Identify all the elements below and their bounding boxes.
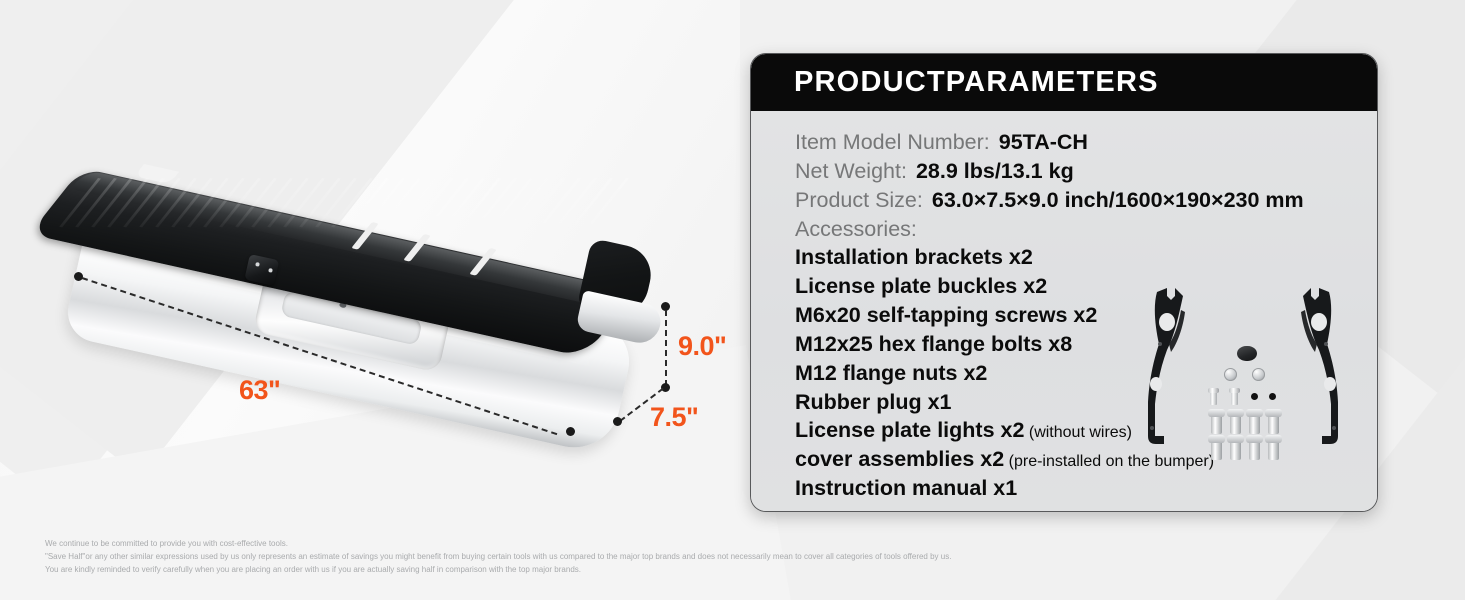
dimension-label-length: 63": [239, 375, 280, 406]
hardware-group: [1207, 346, 1287, 454]
installation-bracket-right: [1295, 286, 1341, 446]
accessory-text: License plate lights x2: [795, 418, 1024, 442]
accessory-text: M12 flange nuts x2: [795, 361, 987, 385]
dimension-label-depth: 7.5": [650, 402, 698, 433]
accessory-note: (without wires): [1024, 424, 1132, 441]
disclaimer-line: "Save Half"or any other similar expressi…: [45, 551, 1145, 564]
dimension-line-height: [665, 310, 667, 386]
accessory-text: Installation brackets x2: [795, 245, 1033, 269]
black-buckle-1-icon: [1251, 393, 1258, 400]
spec-list: Item Model Number:95TA-CHNet Weight:28.9…: [795, 130, 1377, 213]
spec-row: Product Size:63.0×7.5×9.0 inch/1600×190×…: [795, 188, 1377, 213]
accessory-text: License plate buckles x2: [795, 274, 1047, 298]
accessory-text: M12x25 hex flange bolts x8: [795, 332, 1072, 356]
spec-row: Net Weight:28.9 lbs/13.1 kg: [795, 159, 1377, 184]
hex-flange-bolt-5-icon: [1211, 438, 1222, 460]
hex-flange-bolt-6-icon: [1230, 438, 1241, 460]
hex-flange-bolt-7-icon: [1249, 438, 1260, 460]
disclaimer-line: You are kindly reminded to verify carefu…: [45, 564, 1145, 577]
rubber-plug-icon: [1237, 346, 1257, 361]
product-spec-image: 63" 9.0" 7.5" PRODUCTPARAMETERS Item Mod…: [0, 0, 1465, 600]
self-tapping-screw-2-icon: [1231, 390, 1238, 405]
accessory-text: cover assemblies x2: [795, 447, 1004, 471]
dimension-label-height: 9.0": [678, 331, 726, 362]
hex-flange-bolt-4-icon: [1268, 412, 1279, 434]
spec-value: 28.9 lbs/13.1 kg: [916, 159, 1074, 184]
hex-flange-bolt-2-icon: [1230, 412, 1241, 434]
flange-nut-2-icon: [1252, 368, 1265, 381]
installation-bracket-left: [1145, 286, 1191, 446]
dimension-dot-depth-end: [613, 417, 622, 426]
accessory-text: M6x20 self-tapping screws x2: [795, 303, 1097, 327]
flange-nut-1-icon: [1224, 368, 1237, 381]
accessory-text: Instruction manual x1: [795, 476, 1017, 500]
self-tapping-screw-1-icon: [1210, 390, 1217, 405]
product-photo: 63" 9.0" 7.5": [0, 0, 745, 520]
disclaimer: We continue to be committed to provide y…: [45, 538, 1145, 577]
hex-flange-bolt-3-icon: [1249, 412, 1260, 434]
accessory-text: Rubber plug x1: [795, 390, 951, 414]
hex-flange-bolt-1-icon: [1211, 412, 1222, 434]
accessory-item: Installation brackets x2: [795, 243, 1377, 272]
accessories-heading: Accessories:: [795, 217, 1377, 242]
dimension-dot-length-end: [566, 427, 575, 436]
spec-label: Item Model Number:: [795, 130, 990, 155]
hex-flange-bolt-8-icon: [1268, 438, 1279, 460]
spec-value: 63.0×7.5×9.0 inch/1600×190×230 mm: [932, 188, 1304, 213]
rear-step-bumper-illustration: [72, 150, 672, 430]
panel-title: PRODUCTPARAMETERS: [794, 66, 1159, 99]
black-buckle-2-icon: [1269, 393, 1276, 400]
accessories-photo: [1145, 286, 1341, 456]
spec-row: Item Model Number:95TA-CH: [795, 130, 1377, 155]
disclaimer-line: We continue to be committed to provide y…: [45, 538, 1145, 551]
panel-body: Item Model Number:95TA-CHNet Weight:28.9…: [751, 111, 1377, 512]
panel-header: PRODUCTPARAMETERS: [751, 54, 1377, 111]
spec-label: Product Size:: [795, 188, 923, 213]
product-parameters-panel: PRODUCTPARAMETERS Item Model Number:95TA…: [750, 53, 1378, 512]
accessory-item: Instruction manual x1: [795, 474, 1377, 503]
spec-value: 95TA-CH: [999, 130, 1088, 155]
spec-label: Net Weight:: [795, 159, 907, 184]
